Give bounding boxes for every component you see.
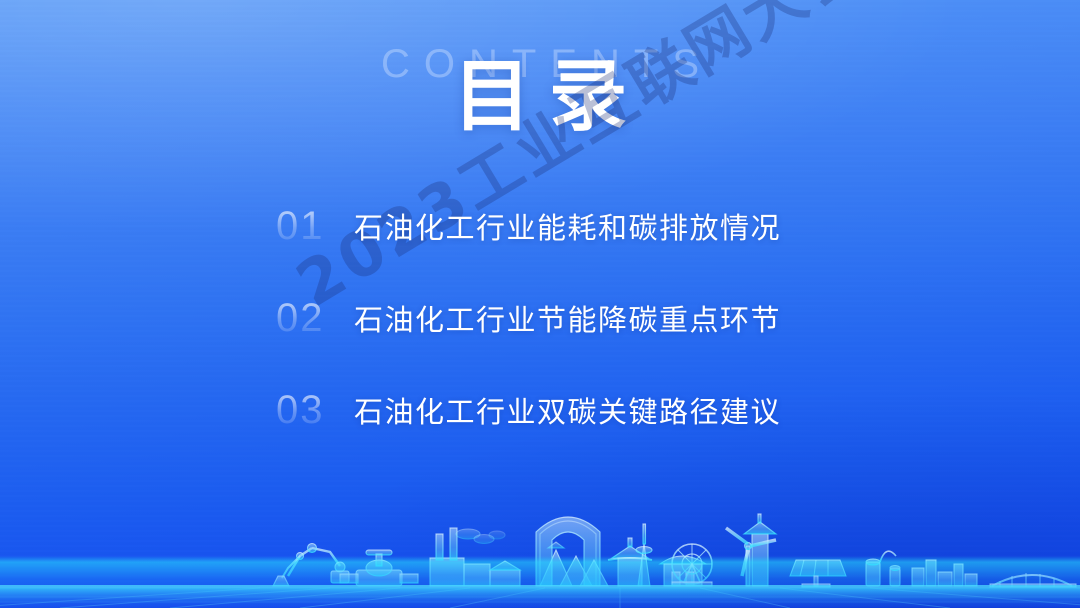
horizon-glow	[0, 585, 1080, 588]
contents-item-label: 石油化工行业双碳关键路径建议	[354, 389, 781, 431]
skyline-shapes	[273, 514, 1076, 587]
skyline-decoration	[0, 498, 1080, 608]
contents-item-label: 石油化工行业节能降碳重点环节	[354, 297, 781, 339]
contents-list: 01 石油化工行业能耗和碳排放情况 02 石油化工行业节能降碳重点环节 03 石…	[276, 196, 836, 440]
factory-icon	[430, 528, 520, 586]
smokestack-icon	[436, 534, 443, 560]
bridge-icon	[990, 573, 1076, 587]
contents-item-number: 03	[276, 390, 354, 430]
slide-header: CONTENTS 目录	[0, 44, 1080, 84]
page-title: 目录	[0, 54, 1080, 140]
warehouse-icon	[490, 570, 520, 586]
contents-item-02[interactable]: 02 石油化工行业节能降碳重点环节	[276, 288, 836, 348]
storage-tank-icon	[866, 551, 900, 586]
city-block-icon	[912, 560, 977, 586]
contents-item-number: 01	[276, 206, 354, 246]
solar-panel-icon	[790, 560, 846, 587]
slide-canvas: CONTENTS 目录 2023工业互联网大会 01 石油化工行业能耗和碳排放情…	[0, 0, 1080, 608]
contents-item-03[interactable]: 03 石油化工行业双碳关键路径建议	[276, 380, 836, 440]
road-gradient	[0, 588, 1080, 608]
contents-item-01[interactable]: 01 石油化工行业能耗和碳排放情况	[276, 196, 836, 256]
industrial-valve-icon	[340, 550, 418, 586]
contents-item-label: 石油化工行业能耗和碳排放情况	[354, 205, 781, 247]
robot-arm-icon	[273, 544, 349, 587]
contents-item-number: 02	[276, 298, 354, 338]
